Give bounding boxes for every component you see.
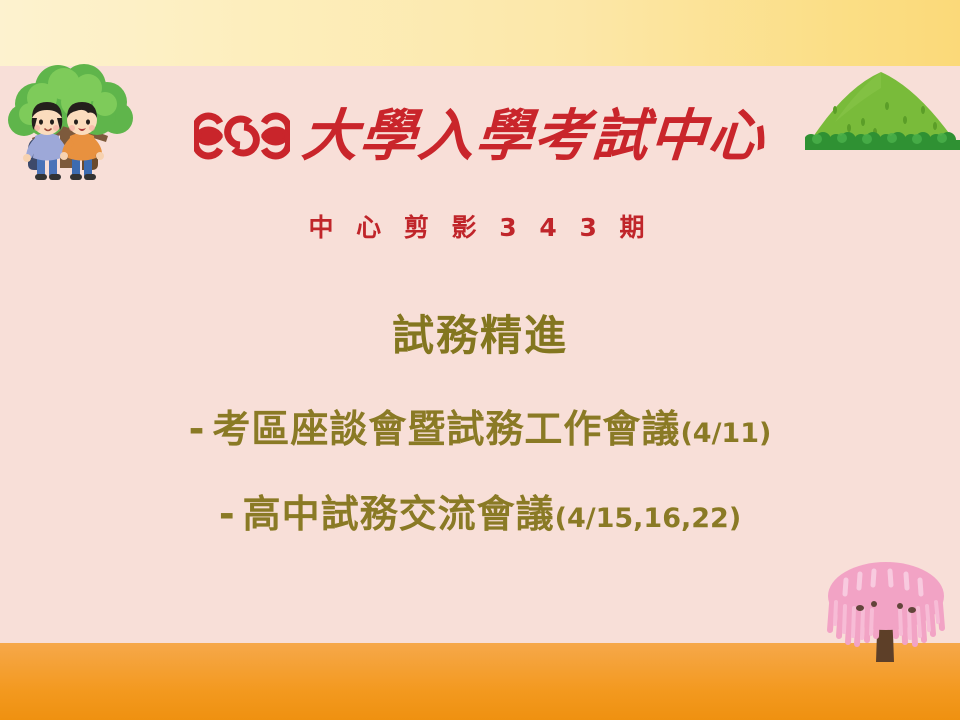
list-item: -高中試務交流會議(4/15,16,22) — [0, 483, 960, 538]
bullet-date: (4/11) — [680, 418, 771, 449]
slide-canvas: 大學入學考試中心 中 心 剪 影 3 4 3 期 試務精進 -考區座談會暨試務工… — [0, 0, 960, 720]
issue-line: 中 心 剪 影 3 4 3 期 — [0, 208, 960, 244]
page-title: 試務精進 — [0, 302, 960, 363]
bullet-dash: - — [219, 492, 235, 536]
bullet-text: 高中試務交流會議 — [243, 492, 555, 536]
bullet-dash: - — [189, 407, 205, 451]
organization-logo-row: 大學入學考試中心 — [0, 100, 960, 172]
cec-cloud-logo-icon — [194, 107, 290, 165]
organization-name: 大學入學考試中心 — [300, 108, 768, 164]
bullet-date: (4/15,16,22) — [555, 503, 742, 534]
bullet-list: -考區座談會暨試務工作會議(4/11) -高中試務交流會議(4/15,16,22… — [0, 398, 960, 568]
list-item: -考區座談會暨試務工作會議(4/11) — [0, 398, 960, 453]
bullet-text: 考區座談會暨試務工作會議 — [212, 407, 680, 451]
top-decorative-band — [0, 0, 960, 66]
cherry-blossom-tree-illustration — [812, 552, 960, 667]
